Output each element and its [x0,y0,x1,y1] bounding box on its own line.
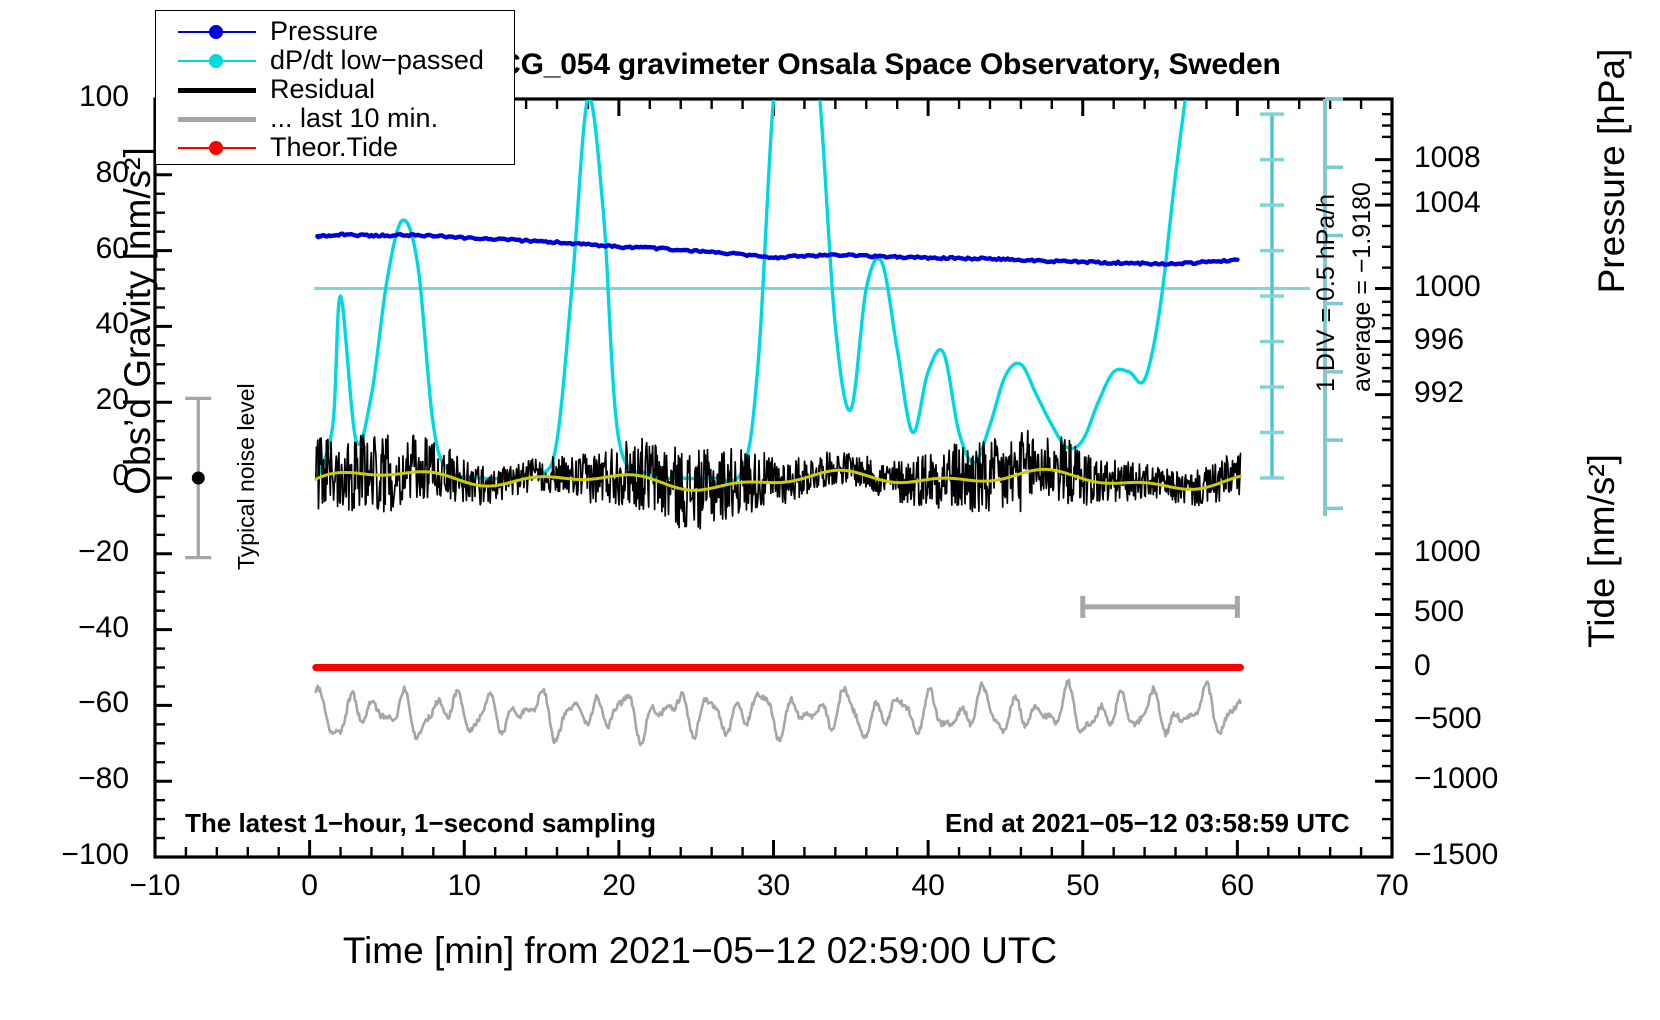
x-tick-label: 40 [868,869,988,903]
tide-tick-label: −500 [1414,702,1482,736]
legend-marker-icon [209,54,223,68]
chart-title: SCG_054 gravimeter Onsala Space Observat… [380,48,1380,82]
annotation-bottom-left: The latest 1−hour, 1−second sampling [185,808,656,839]
legend-label: Theor.Tide [270,132,398,163]
legend-item-residual[interactable]: Residual [178,75,514,104]
pressure-tick-label: 1000 [1414,270,1481,304]
y-tick-label: 20 [0,383,129,417]
x-tick-label: −10 [95,869,215,903]
legend-line-icon [178,88,256,93]
legend-label: Residual [270,74,375,105]
pressure-tick-label: 1008 [1414,141,1481,175]
x-tick-label: 30 [714,869,834,903]
annotation-noise-level: Typical noise level [233,383,260,570]
x-tick-label: 60 [1177,869,1297,903]
legend-swatch [178,22,256,42]
chart-canvas: SCG_054 gravimeter Onsala Space Observat… [0,0,1660,1020]
y-tick-label: −40 [0,611,129,645]
legend-label: Pressure [270,16,378,47]
series-last-10-min [316,680,1241,745]
tide-tick-label: 1000 [1414,535,1481,569]
legend-swatch [178,138,256,158]
pressure-tick-label: 996 [1414,323,1464,357]
legend-item-theor-tide[interactable]: Theor.Tide [178,133,514,162]
y-tick-label: −80 [0,762,129,796]
y-tick-label: 40 [0,307,129,341]
legend-marker-icon [209,141,223,155]
x-tick-label: 50 [1023,869,1143,903]
legend-label: ... last 10 min. [270,103,438,134]
series-pressure [317,234,1237,265]
legend-item-last-10-min[interactable]: ... last 10 min. [178,104,514,133]
y-tick-label: 100 [0,80,129,114]
pressure-tick-label: 992 [1414,376,1464,410]
noise-bar-center-dot [192,472,205,485]
x-tick-label: 0 [250,869,370,903]
y-axis-label-pressure: Pressure [hPa] [1591,11,1633,331]
legend-label: dP/dt low−passed [270,45,484,76]
y-tick-label: 60 [0,232,129,266]
legend-swatch [178,51,256,71]
legend-item-dp-dt-low-passed[interactable]: dP/dt low−passed [178,46,514,75]
legend-swatch [178,109,256,129]
pressure-tick-label: 1004 [1414,186,1481,220]
tide-tick-label: −1500 [1414,838,1498,872]
legend-marker-icon [209,25,223,39]
x-tick-label: 20 [559,869,679,903]
annotation-bottom-right: End at 2021−05−12 03:58:59 UTC [945,808,1350,839]
y-axis-label-tide: Tide [nm/s²] [1581,401,1623,701]
y-tick-label: 80 [0,156,129,190]
x-tick-label: 10 [404,869,524,903]
x-axis-label: Time [min] from 2021−05−12 02:59:00 UTC [0,930,1400,972]
y-tick-label: −60 [0,686,129,720]
annotation-average: average = −1.9180 [1348,182,1377,392]
tide-tick-label: 0 [1414,649,1431,683]
legend-item-pressure[interactable]: Pressure [178,17,514,46]
y-tick-label: −100 [0,838,129,872]
legend-line-icon [178,117,256,122]
y-tick-label: 0 [0,459,129,493]
tide-tick-label: −1000 [1414,762,1498,796]
y-tick-label: −20 [0,535,129,569]
tide-tick-label: 500 [1414,595,1464,629]
x-tick-label: 70 [1332,869,1452,903]
annotation-div-scale: 1 DIV = 0.5 hPa/h [1312,194,1341,392]
chart-legend: PressuredP/dt low−passedResidual... last… [155,10,515,165]
legend-swatch [178,80,256,100]
